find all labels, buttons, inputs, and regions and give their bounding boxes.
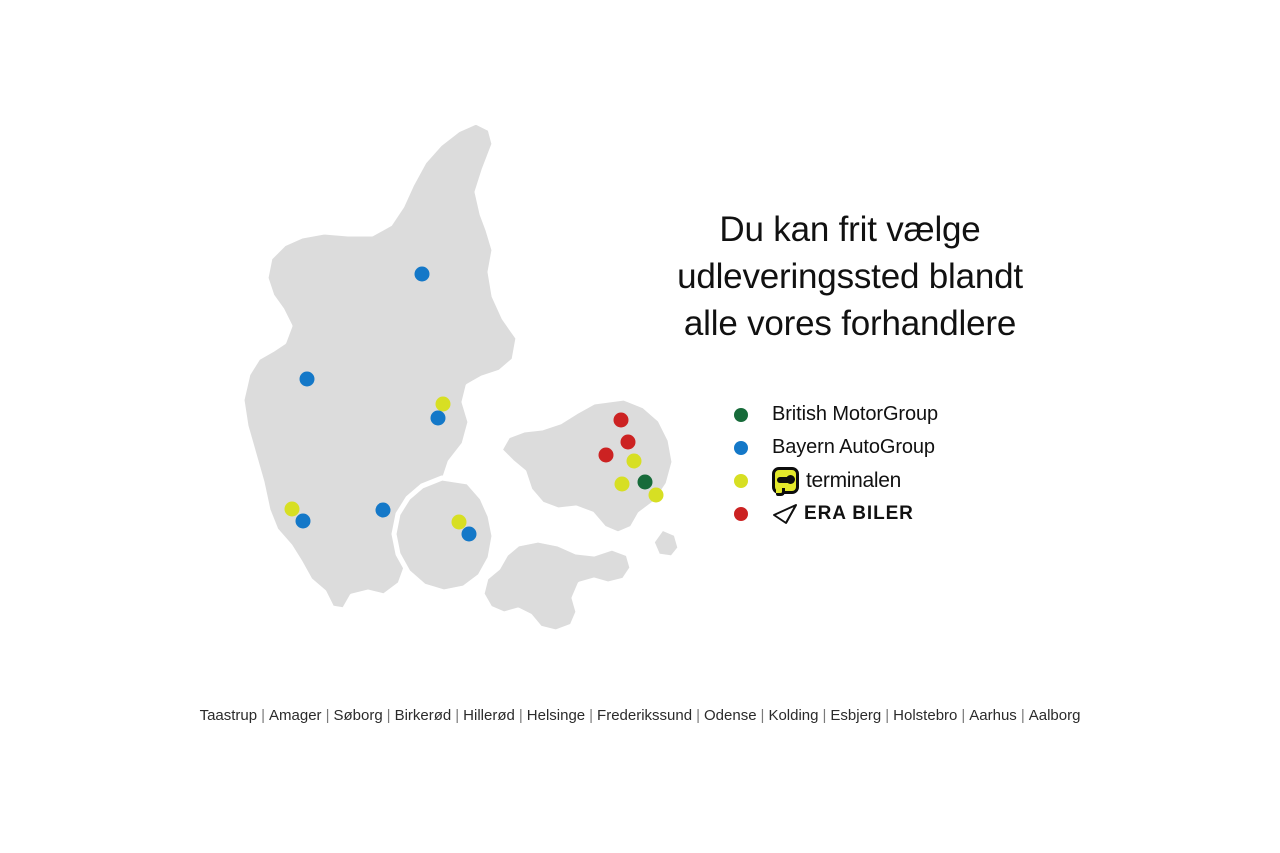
map-marker[interactable] bbox=[627, 454, 642, 469]
promo-map-page: Du kan frit vælge udleveringssted blandt… bbox=[0, 0, 1280, 853]
map-marker[interactable] bbox=[296, 514, 311, 529]
city-name: Aarhus bbox=[969, 707, 1017, 724]
city-separator: | bbox=[451, 707, 463, 724]
legend-label-bayern-autogroup: Bayern AutoGroup bbox=[772, 436, 935, 459]
legend-item-british-motorgroup[interactable]: British MotorGroup bbox=[734, 398, 1052, 431]
city-name: Birkerød bbox=[395, 707, 452, 724]
city-name: Kolding bbox=[768, 707, 818, 724]
city-separator: | bbox=[819, 707, 831, 724]
page-title: Du kan frit vælge udleveringssted blandt… bbox=[648, 206, 1052, 347]
map-marker[interactable] bbox=[615, 477, 630, 492]
legend-dot-icon-bayern-autogroup bbox=[734, 441, 748, 455]
city-separator: | bbox=[1017, 707, 1029, 724]
city-name: Hillerød bbox=[463, 707, 515, 724]
map-marker[interactable] bbox=[599, 448, 614, 463]
city-separator: | bbox=[757, 707, 769, 724]
funen-landmass bbox=[394, 478, 494, 592]
map-marker[interactable] bbox=[300, 372, 315, 387]
city-name: Holstebro bbox=[893, 707, 957, 724]
era-biler-logo-icon bbox=[772, 503, 798, 525]
headline-line-1: Du kan frit vælge bbox=[719, 210, 980, 249]
map-marker[interactable] bbox=[436, 397, 451, 412]
dealer-legend: British MotorGroup Bayern AutoGroup term… bbox=[648, 398, 1052, 530]
map-marker[interactable] bbox=[431, 411, 446, 426]
legend-dot-icon-era-biler bbox=[734, 507, 748, 521]
legend-item-bayern-autogroup[interactable]: Bayern AutoGroup bbox=[734, 431, 1052, 464]
legend-body-bayern-autogroup: Bayern AutoGroup bbox=[772, 435, 935, 461]
city-separator: | bbox=[585, 707, 597, 724]
city-name: Amager bbox=[269, 707, 322, 724]
city-name: Søborg bbox=[333, 707, 382, 724]
city-separator: | bbox=[515, 707, 527, 724]
denmark-map bbox=[232, 110, 702, 680]
city-separator: | bbox=[957, 707, 969, 724]
city-name: Helsinge bbox=[527, 707, 585, 724]
legend-label-british-motorgroup: British MotorGroup bbox=[772, 403, 938, 426]
map-marker[interactable] bbox=[376, 503, 391, 518]
legend-body-era-biler: ERA BILER bbox=[772, 501, 914, 527]
city-separator: | bbox=[383, 707, 395, 724]
map-marker[interactable] bbox=[462, 527, 477, 542]
city-separator: | bbox=[257, 707, 269, 724]
map-marker[interactable] bbox=[415, 267, 430, 282]
map-marker[interactable] bbox=[621, 435, 636, 450]
city-separator: | bbox=[692, 707, 704, 724]
city-separator: | bbox=[881, 707, 893, 724]
city-name: Frederikssund bbox=[597, 707, 692, 724]
denmark-map-svg bbox=[232, 110, 702, 680]
legend-body-british-motorgroup: British MotorGroup bbox=[772, 402, 938, 428]
legend-body-terminalen: terminalen bbox=[772, 468, 901, 494]
city-name: Esbjerg bbox=[830, 707, 881, 724]
city-separator: | bbox=[322, 707, 334, 724]
legend-dot-icon-terminalen bbox=[734, 474, 748, 488]
city-name: Odense bbox=[704, 707, 757, 724]
legend-label-terminalen: terminalen bbox=[806, 469, 901, 493]
content-column: Du kan frit vælge udleveringssted blandt… bbox=[648, 206, 1052, 530]
headline-line-2: udleveringssted blandt bbox=[677, 257, 1023, 296]
terminalen-logo-icon bbox=[772, 467, 799, 494]
city-name: Aalborg bbox=[1029, 707, 1081, 724]
legend-item-era-biler[interactable]: ERA BILER bbox=[734, 497, 1052, 530]
small-island-landmass bbox=[652, 528, 680, 558]
headline-line-3: alle vores forhandlere bbox=[684, 304, 1016, 343]
lolland-falster-landmass bbox=[482, 540, 632, 632]
terminalen-logo-tail bbox=[776, 488, 785, 496]
legend-dot-icon-british-motorgroup bbox=[734, 408, 748, 422]
legend-label-era-biler: ERA BILER bbox=[804, 503, 914, 525]
legend-item-terminalen[interactable]: terminalen bbox=[734, 464, 1052, 497]
dealer-city-list: Taastrup|Amager|Søborg|Birkerød|Hillerød… bbox=[0, 705, 1280, 726]
city-name: Taastrup bbox=[200, 707, 258, 724]
map-marker[interactable] bbox=[614, 413, 629, 428]
